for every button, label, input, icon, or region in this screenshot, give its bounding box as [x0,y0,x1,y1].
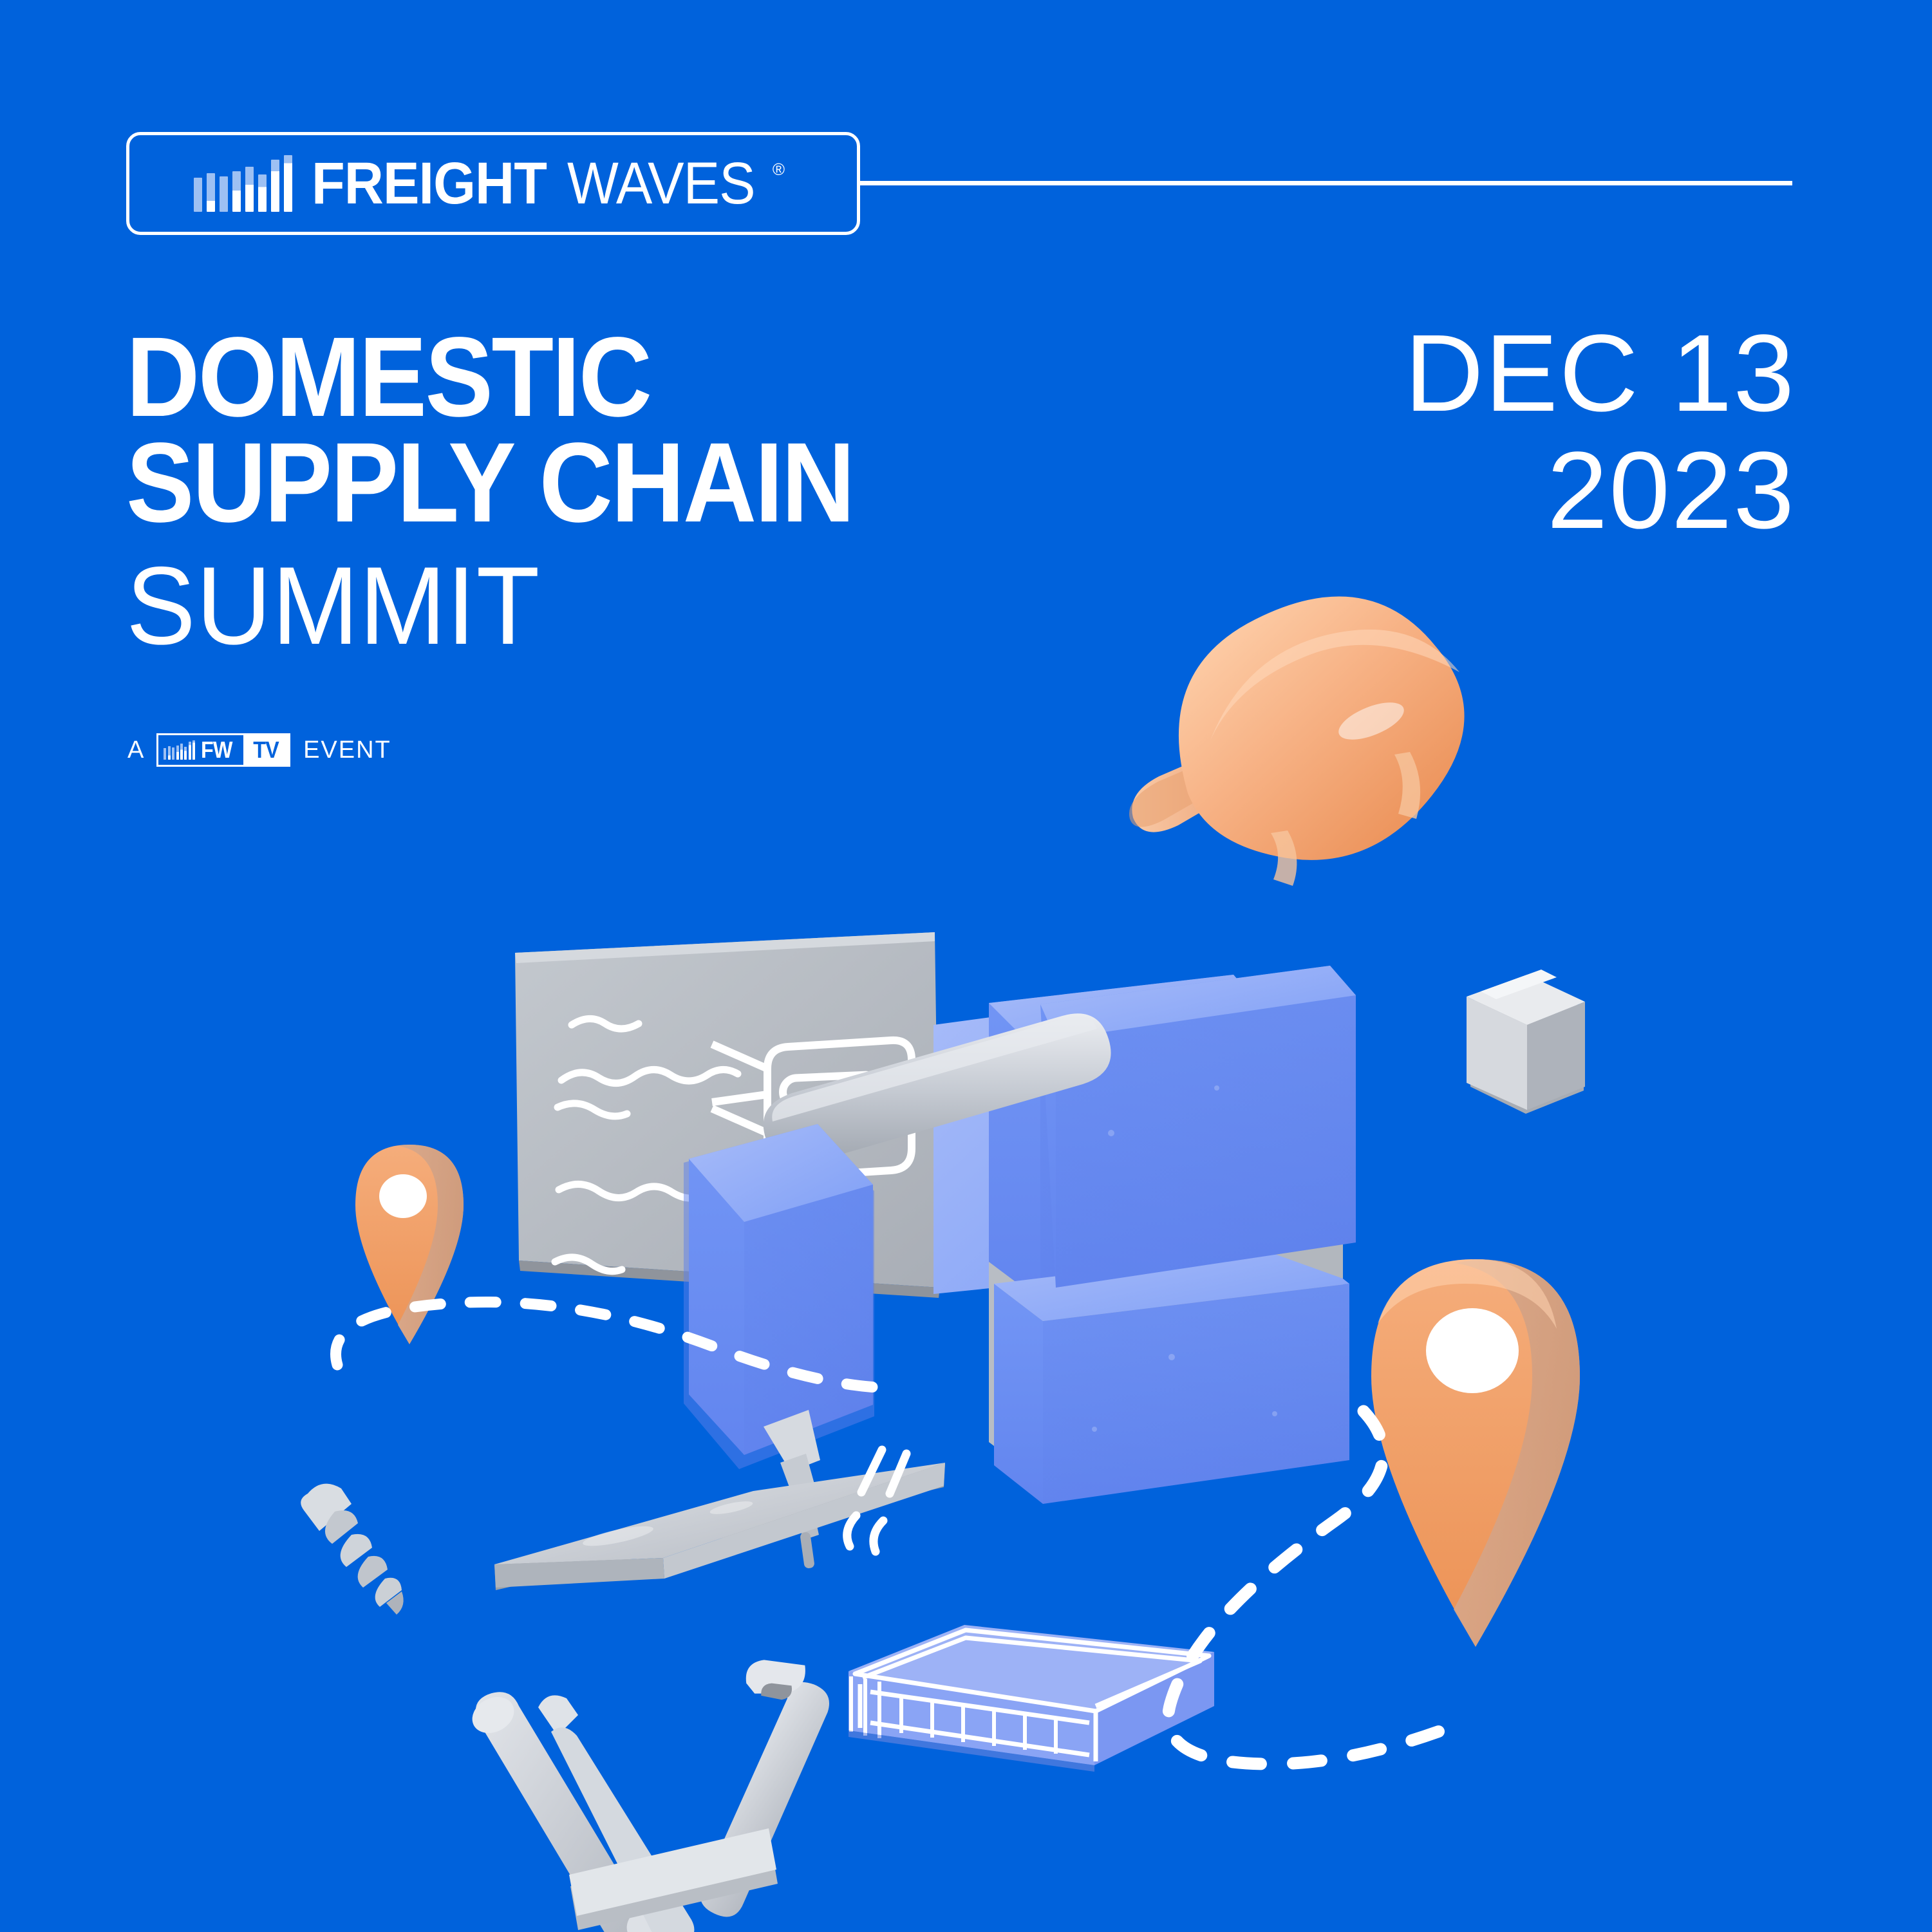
freightwaves-bars-logo [194,155,292,212]
date-line-1: DEC 13 [1405,315,1796,433]
title-line-2: SUPPLY CHAIN [126,431,854,536]
hard-hat-icon [1129,596,1465,886]
date-line-2: 2023 [1405,433,1796,550]
scanner-device-icon [684,1013,1111,1569]
fwtv-event-badge[interactable]: A FW TV EVENT [127,731,391,769]
event-date: DEC 13 2023 [1405,315,1796,550]
illustration-layer [0,0,1932,1932]
page-title: DOMESTIC SUPPLY CHAIN SUMMIT [126,325,934,663]
map-pin-small-icon [355,1145,464,1344]
squiggle-lines [555,1018,738,1271]
registered-mark-icon: ® [773,160,785,180]
logo-text-bold: FREIGHT [312,154,547,213]
badge-suffix: EVENT [303,736,391,764]
spark-marks-icon [847,1450,906,1552]
clipboard-panel-icon [515,932,940,1298]
title-line-1: DOMESTIC [126,325,854,431]
scanner-outline-icon [712,1040,912,1240]
fwtv-chip-tv: TV [243,735,288,765]
fwtv-chip-tv-label: TV [253,738,279,762]
freightwaves-logo[interactable]: FREIGHT WAVES ® [126,132,860,235]
cardboard-cube-icon [1467,970,1585,1114]
title-line-3: SUMMIT [126,550,886,662]
wrench-tools-icon [466,1646,836,1932]
package-box-large-icon [933,966,1356,1504]
fwtv-chip: FW TV [156,733,290,767]
shipping-container-icon [849,1625,1214,1772]
route-dashes-right-icon [1168,1411,1465,1764]
grey-plate-icon [494,1450,945,1590]
logo-text-light: WAVES [567,154,755,213]
fwtv-chip-fw: FW [158,735,243,765]
header-divider-rule [860,181,1792,185]
fwtv-chip-fw-label: FW [201,738,232,762]
route-dashes-left-icon [336,1302,889,1389]
poster-canvas: FREIGHT WAVES ® DOMESTIC SUPPLY CHAIN SU… [0,0,1932,1932]
badge-prefix: A [127,736,145,764]
screw-icon [301,1484,403,1615]
map-pin-large-icon [1371,1259,1580,1647]
fwtv-bars-logo [164,740,195,760]
